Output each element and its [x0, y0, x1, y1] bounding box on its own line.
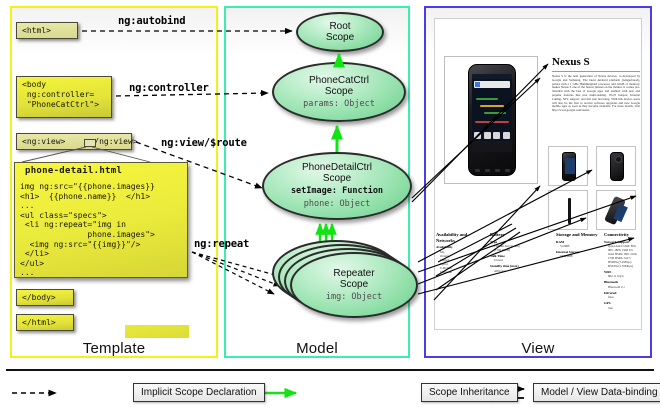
- spec-col4-g4-v0: true: [608, 306, 644, 310]
- screen-wave-3: [484, 112, 506, 114]
- scope-phonecatctrl-prop-params: params: Object: [303, 99, 375, 110]
- spec-column-connectivity: Connectivity Network Support Quad-band G…: [604, 232, 644, 310]
- hero-phone-buttons: [475, 169, 510, 172]
- label-ng-controller: ng:controller: [129, 82, 209, 94]
- scope-repeater-prop-img: img: Object: [326, 292, 382, 303]
- partial-source-code: img ng:src="{{phone.images}} <h1> {{phon…: [20, 182, 184, 278]
- legend-divider: [6, 369, 654, 371]
- thumbnail-3[interactable]: [548, 190, 588, 230]
- phone-statusbar: [472, 74, 512, 79]
- spec-col2-header: Battery: [490, 232, 544, 238]
- thumbnail-1[interactable]: [548, 146, 588, 186]
- spec-col4-g0-v5: HSUPA (5.76Mbps): [608, 264, 644, 268]
- legend-label-scope-inheritance: Scope Inheritance: [421, 383, 518, 402]
- panel-label-template: Template: [10, 340, 218, 357]
- spec-column-storage: Storage and Memory RAM 512MB Internal St…: [556, 232, 604, 258]
- spec-col4-header: Connectivity: [604, 232, 644, 238]
- phone-searchbar: [474, 81, 510, 88]
- scope-phonedetailctrl-title-2: Scope: [323, 173, 351, 184]
- label-ng-view-route: ng:view/$route: [161, 137, 247, 149]
- scope-phonecatctrl-title-2: Scope: [325, 86, 353, 97]
- scope-root-title-2: Scope: [326, 32, 354, 43]
- code-tag-body-open: <body ng:controller= "PhoneCatCtrl">: [16, 76, 112, 118]
- spec-col2-g2-v0: 428 hours: [494, 269, 544, 273]
- scope-phonecatctrl[interactable]: PhoneCatCtrl Scope params: Object: [272, 62, 406, 122]
- scope-phonecatctrl-title-1: PhoneCatCtrl: [309, 75, 369, 86]
- screen-wave-2: [480, 105, 504, 107]
- panel-label-view: View: [424, 340, 652, 357]
- thumb1-phone-front: [562, 152, 576, 181]
- partial-file-name: phone-detail.html: [25, 166, 122, 176]
- spec-col4-g3-v0: false: [608, 295, 644, 299]
- spec-col4-g1-v0: 802.11 b/g/n: [608, 274, 644, 278]
- code-tag-html-close: </html>: [16, 314, 74, 331]
- label-ng-autobind: ng:autobind: [118, 15, 185, 27]
- phone-dock-row: [474, 132, 510, 139]
- scope-phonedetailctrl-title-1: PhoneDetailCtrl: [302, 162, 372, 173]
- legend-label-data-binding: Model / View Data-binding: [533, 383, 660, 402]
- code-tag-ngview: <ng:view> </ng:view>: [16, 133, 132, 150]
- product-title: Nexus S: [552, 56, 590, 68]
- spec-column-battery: Battery Type Lithium Ion (Li-Ion) (1500 …: [490, 232, 544, 273]
- screen-wave-1: [476, 98, 498, 100]
- spec-col2-g1-v0: 6 hours: [494, 258, 544, 262]
- phone-navbar: [472, 141, 512, 152]
- thumbnail-4[interactable]: [596, 190, 636, 230]
- spec-col3-g0-v0: 512MB: [560, 244, 604, 248]
- thumb3-phone-side: [568, 198, 571, 224]
- spec-col4-g2-v0: Bluetooth 2.1: [608, 285, 644, 289]
- thumbnail-2[interactable]: [596, 146, 636, 186]
- scope-root[interactable]: Root Scope: [296, 12, 384, 52]
- legend-label-implicit-scope: Implicit Scope Declaration: [133, 383, 265, 402]
- code-tag-html-open: <html>: [16, 22, 78, 39]
- diagram-canvas: <html> <body ng:controller= "PhoneCatCtr…: [0, 0, 660, 420]
- thumb2-phone-back: [610, 152, 624, 181]
- scope-phonedetailctrl[interactable]: PhoneDetailCtrl Scope setImage: Function…: [262, 152, 412, 220]
- spec-column-availability: Availability and Networks Availability M…: [436, 232, 480, 274]
- spec-col3-header: Storage and Memory: [556, 232, 604, 238]
- spec-col2-g0-v1: (1500 mAH): [494, 248, 544, 252]
- screen-wave-4: [475, 121, 509, 123]
- ngview-slot-marker: [84, 139, 96, 147]
- scope-repeater-title-2: Scope: [340, 279, 368, 290]
- partial-card-notch: [125, 325, 189, 338]
- product-description: Nexus S is the next generation of Nexus …: [552, 75, 640, 113]
- specs-table: Availability and Networks Availability M…: [436, 232, 640, 306]
- partial-template-card: phone-detail.html img ng:src="{{phone.im…: [14, 162, 188, 278]
- code-tag-body-close: </body>: [16, 289, 74, 306]
- panel-label-model: Model: [224, 340, 410, 357]
- spec-col1-g0-v5: Vodafone: [440, 270, 480, 274]
- scope-phonedetailctrl-prop-phone: phone: Object: [304, 199, 371, 210]
- spec-col1-header: Availability and Networks: [436, 232, 480, 243]
- scope-phonedetailctrl-prop-setimage: setImage: Function: [291, 186, 383, 197]
- scope-repeater[interactable]: Repeater Scope img: Object: [290, 252, 418, 318]
- spec-col3-g1-v0: 16384MB: [560, 254, 604, 258]
- scope-root-title-1: Root: [329, 21, 350, 32]
- hero-phone-screen: [472, 74, 512, 152]
- scope-repeater-title-1: Repeater: [333, 268, 374, 279]
- label-ng-repeat: ng:repeat: [194, 238, 249, 250]
- title-divider: [552, 71, 640, 72]
